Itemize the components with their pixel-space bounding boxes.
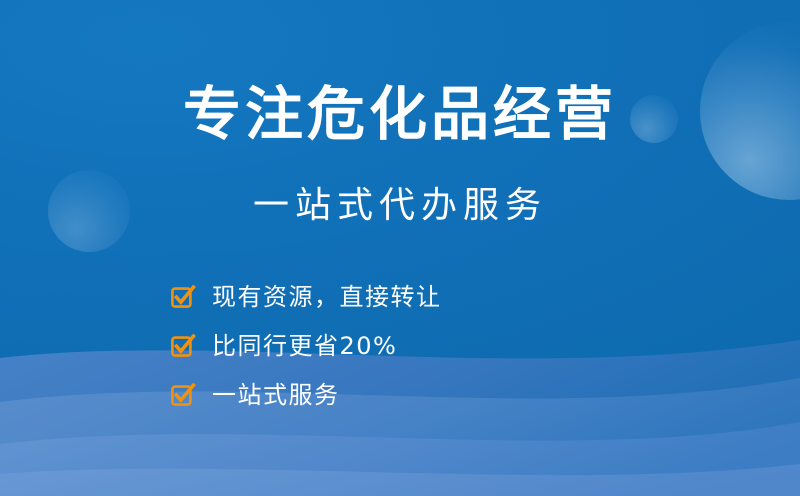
feature-list: 现有资源，直接转让 比同行更省20% 一站式服务: [170, 272, 600, 419]
list-item-label: 现有资源，直接转让: [212, 285, 442, 309]
list-item: 现有资源，直接转让: [170, 272, 600, 321]
list-item: 一站式服务: [170, 370, 600, 419]
list-item: 比同行更省20%: [170, 321, 600, 370]
page-subtitle: 一站式代办服务: [0, 186, 800, 226]
checkbox-checked-icon: [170, 382, 196, 408]
banner-content: 专注危化品经营 一站式代办服务 现有资源，直接转让 比同行更省20%: [0, 0, 800, 496]
list-item-label: 比同行更省20%: [212, 334, 397, 358]
checkbox-checked-icon: [170, 284, 196, 310]
list-item-label: 一站式服务: [212, 383, 340, 407]
promo-banner: 专注危化品经营 一站式代办服务 现有资源，直接转让 比同行更省20%: [0, 0, 800, 496]
page-title: 专注危化品经营: [0, 84, 800, 145]
checkbox-checked-icon: [170, 333, 196, 359]
